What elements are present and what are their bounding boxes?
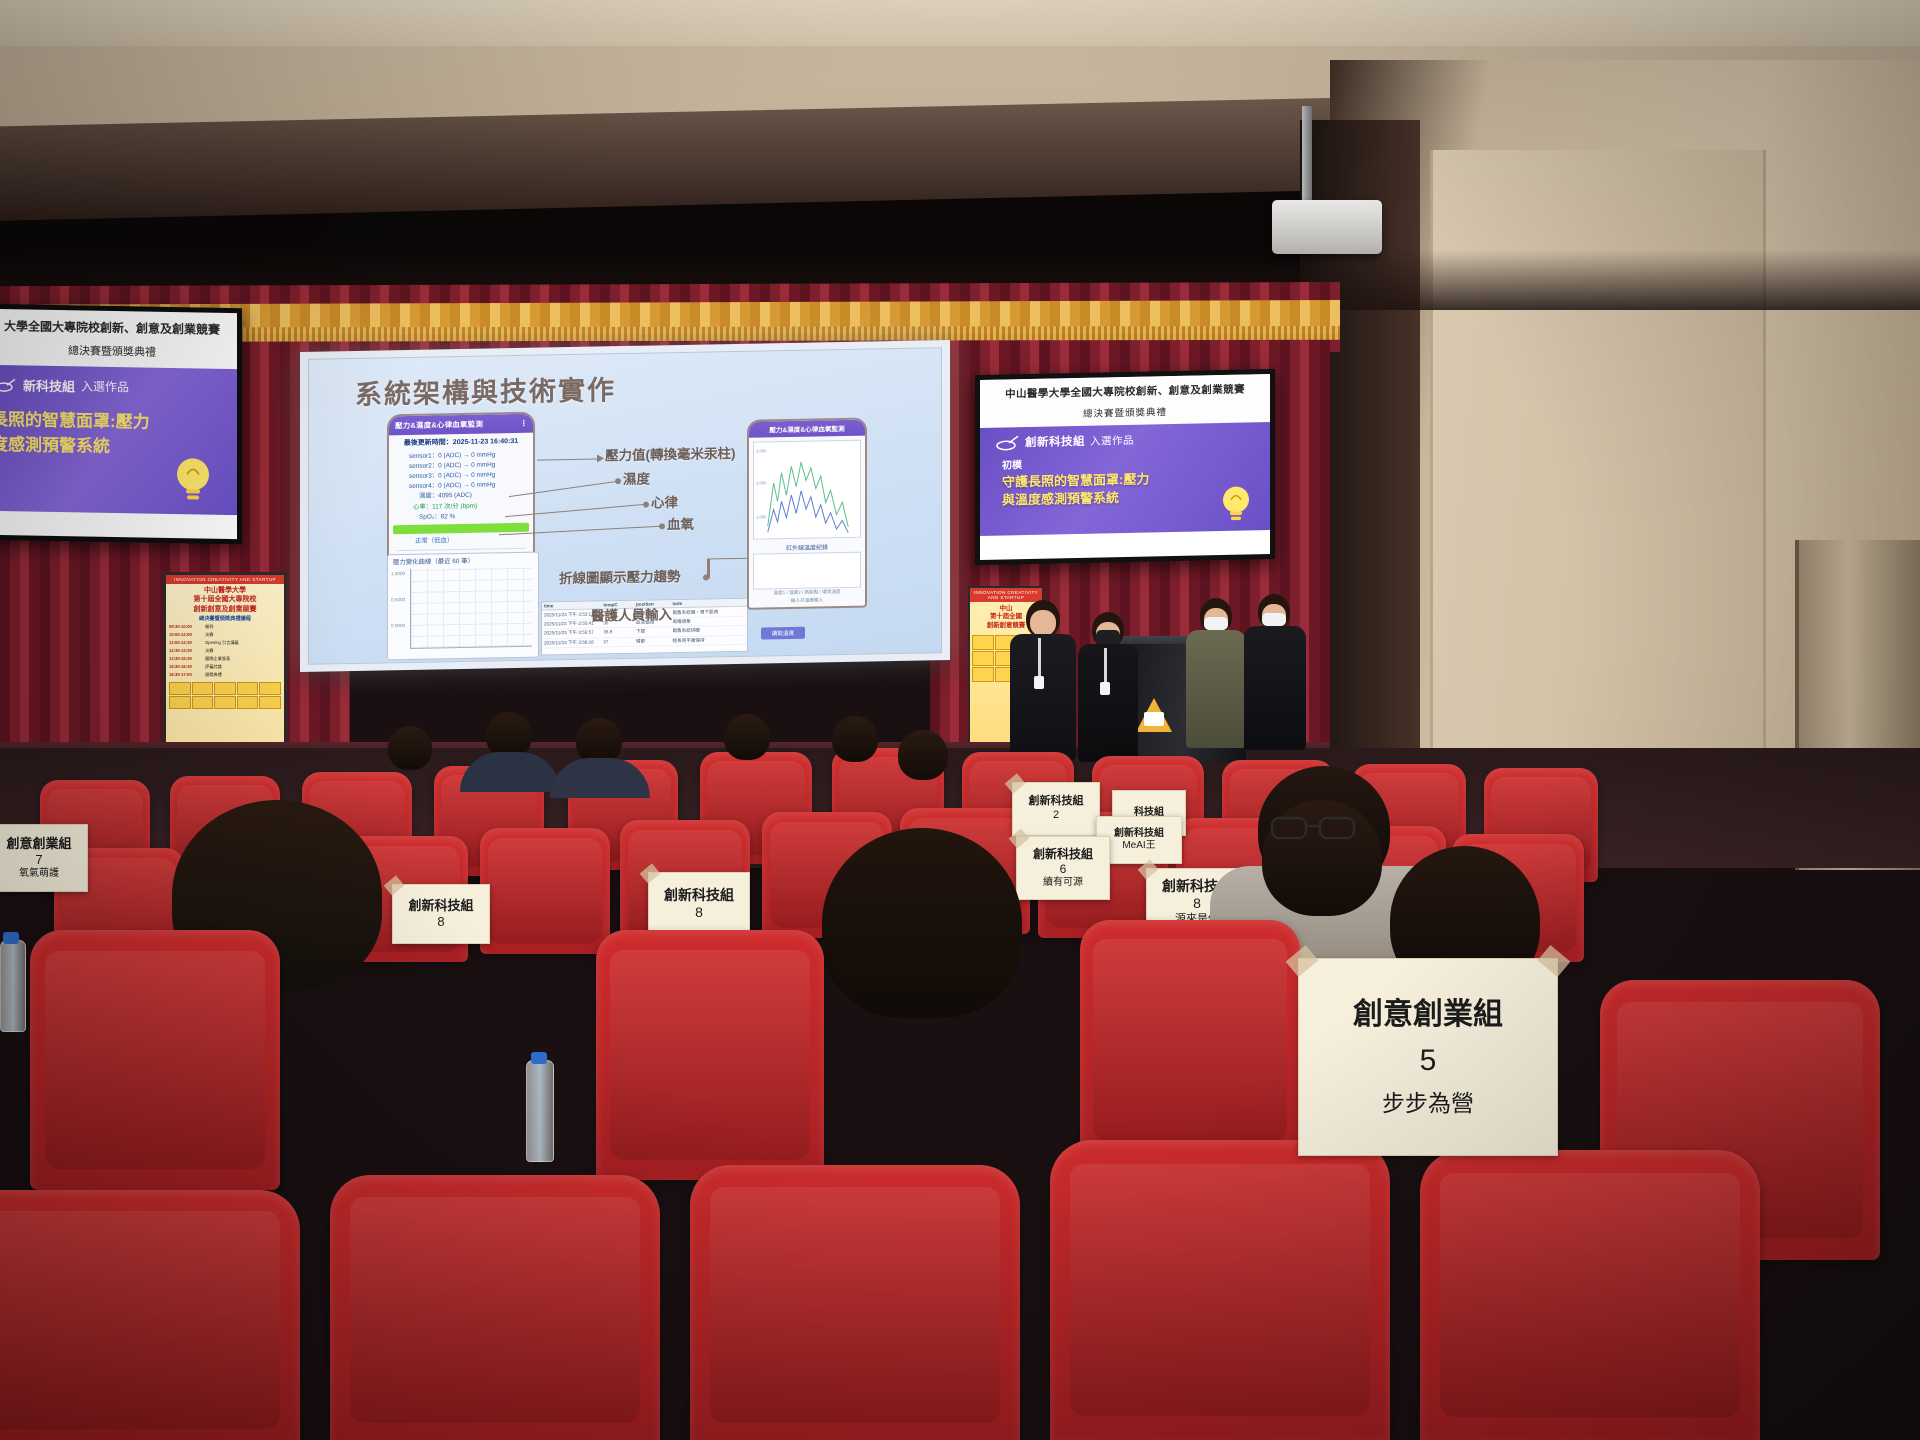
seat-card: 創意創業組 7 氧氣萌護 <box>0 824 88 892</box>
face-mask-icon <box>1204 617 1228 630</box>
bottle-cap <box>3 932 19 944</box>
lightbulb-icon <box>1216 480 1256 527</box>
seat[interactable] <box>596 930 824 1180</box>
chart-caption: 壓力變化曲線（最近 60 筆） <box>388 553 538 567</box>
seat[interactable] <box>690 1165 1020 1440</box>
cell-note: 兩售系統膜・胃下肌肉 <box>670 607 747 617</box>
seat[interactable] <box>1420 1150 1760 1440</box>
schedule-row: 16:30-17:00 頒獎典禮 <box>166 671 284 679</box>
water-bottle <box>0 940 26 1032</box>
left-tv-category-suffix: 入選作品 <box>81 377 129 395</box>
poster-sponsor-grid <box>166 679 284 712</box>
torso <box>1010 634 1076 760</box>
right-tv-header-line2: 總決賽暨頒獎典禮 <box>984 402 1266 422</box>
seat-card-group: 創新科技組 <box>408 898 473 914</box>
seat[interactable] <box>330 1175 660 1440</box>
schedule-desc: 決賽 <box>205 648 213 654</box>
projector <box>1272 200 1382 254</box>
schedule-desc: 決賽 <box>205 632 213 638</box>
torso <box>1186 630 1246 748</box>
seat-card-team: 續有可源 <box>1043 877 1083 890</box>
schedule-desc: Opening 引言講義 <box>205 640 239 646</box>
y-tick: 1,000 <box>756 514 766 519</box>
cell-time: 2025/11/23 下午 3:56:16 <box>542 638 601 647</box>
schedule-row: 10:00-12:00 決賽 <box>166 631 284 639</box>
schedule-row: 13:30-15:30 團隊企業發表 <box>166 655 284 663</box>
sponsor-logo <box>259 696 281 709</box>
ceiling-strip <box>0 0 1920 46</box>
cell-pos: 臂部 <box>634 637 670 646</box>
torso <box>1078 644 1138 762</box>
right-tv-screen: 中山醫學大學全國大專院校創新、創意及創業競賽 總決賽暨頒獎典禮 創新科技組 入選… <box>980 374 1270 560</box>
auditorium-scene: 系統架構與技術實作 壓力&濕度&心律血氧監測 ⋮ 最後更新時間：2025-11-… <box>0 0 1920 1440</box>
y-tick: 3,000 <box>756 448 766 453</box>
poster-title-line2: 第十屆全國大專院校 <box>168 595 282 604</box>
mouse-pointer-icon <box>0 377 17 391</box>
y-tick: 0.0000 <box>391 623 405 628</box>
traffic-cone-icon <box>1136 692 1172 732</box>
sponsor-logo <box>237 696 259 709</box>
audience-head <box>822 828 1022 1018</box>
left-tv-header-line1: 大學全國大專院校創新、創意及創業競賽 <box>0 317 231 338</box>
right-tv-category-label: 創新科技組 <box>1025 433 1085 450</box>
name-badge <box>1034 676 1044 689</box>
face <box>1030 610 1056 636</box>
poster-title-line3: 創新創意及創業競賽 <box>168 605 282 614</box>
chart-series-svg <box>754 441 860 539</box>
schedule-time: 15:30-16:30 <box>169 664 203 670</box>
leader-dot <box>615 478 621 484</box>
schedule-desc: 報到 <box>205 624 213 630</box>
audience-head <box>898 730 948 780</box>
sponsor-logo <box>972 667 994 682</box>
poster-title: 中山醫學大學 第十屆全國大專院校 創新創意及創業競賽 <box>166 584 284 616</box>
seat-card-group: 創新科技組 <box>1029 795 1084 809</box>
cell-pos: 下肢 <box>634 627 670 636</box>
seat-card-group: 創新科技組 <box>1114 828 1164 841</box>
left-tv-display: 大學全國大專院校創新、創意及創業競賽 總決賽暨頒獎典禮 新科技組 入選作品 長照… <box>0 304 242 545</box>
phone-mockup-chart: 壓力&濕度&心律血氧監測 3,000 2,000 1,000 紅外線溫度紀錄 溫… <box>747 418 867 610</box>
torso <box>1244 626 1306 750</box>
annotation-humidity: 濕度 <box>623 468 650 488</box>
cell-note: 兩售系統供暖 <box>670 626 747 636</box>
schedule-desc: 團隊企業發表 <box>205 656 230 662</box>
slide-title: 系統架構與技術實作 <box>355 368 616 412</box>
poster-banner: INNOVATION CREATIVITY AND STARTUP <box>166 575 284 584</box>
seat-card-group: 創新科技組 <box>664 887 734 905</box>
presenter-olive <box>1186 598 1248 748</box>
schedule-desc: 評審討論 <box>205 664 222 670</box>
right-tv-body: 創新科技組 入選作品 初模 守護長照的智慧面罩:壓力 與溫度感測預警系統 <box>980 422 1270 536</box>
seat-card-number: 8 <box>1193 895 1201 913</box>
col-note: note <box>670 599 747 608</box>
name-badge <box>1100 682 1110 695</box>
divider <box>397 548 525 551</box>
schedule-time: 12:00-12:30 <box>169 640 203 646</box>
seat-card: 創新科技組 6 續有可源 <box>1016 836 1110 900</box>
cell-temp: 37 <box>601 637 634 646</box>
right-tv-category-suffix: 入選作品 <box>1090 432 1134 448</box>
left-tv-body: 新科技組 入選作品 長照的智慧面罩:壓力 度感測預警系統 <box>0 365 237 515</box>
annotation-spo2: 血氧 <box>667 513 694 533</box>
left-tv-category-label: 新科技組 <box>23 375 75 395</box>
schedule-row: 12:30-13:30 決賽 <box>166 647 284 655</box>
seat[interactable] <box>0 1190 300 1440</box>
face-mask-icon <box>1262 613 1286 626</box>
lanyard <box>1038 638 1041 678</box>
schedule-time: 12:30-13:30 <box>169 648 203 654</box>
foreground-card-number: 5 <box>1420 1042 1437 1080</box>
seat-card-number: 6 <box>1060 862 1067 877</box>
read-temperature-button[interactable]: 讀取溫度 <box>761 627 805 640</box>
left-tv-header: 大學全國大專院校創新、創意及創業競賽 總決賽暨頒獎典禮 <box>0 309 237 369</box>
eyeglasses-icon <box>1270 812 1356 846</box>
leader-arrow-icon <box>597 454 604 462</box>
schedule-time: 13:30-15:30 <box>169 656 203 662</box>
left-tv-header-line2: 總決賽暨頒獎典禮 <box>0 341 231 361</box>
seat-card-group: 創意創業組 <box>6 836 71 852</box>
poster-subtitle: 總決賽暨頒獎典禮議程 <box>166 616 284 623</box>
lightbulb-icon <box>167 450 219 509</box>
mouse-pointer-icon <box>996 435 1020 451</box>
lanyard <box>1104 648 1107 684</box>
annotation-heart-rate: 心律 <box>651 491 678 511</box>
seat-card: 創新科技組 8 <box>392 884 490 944</box>
schedule-poster-left: INNOVATION CREATIVITY AND STARTUP 中山醫學大學… <box>163 572 287 753</box>
bottle-cap <box>531 1052 547 1064</box>
water-bottle <box>526 1060 554 1162</box>
right-tv-header: 中山醫學大學全國大專院校創新、創意及創業競賽 總決賽暨頒獎典禮 <box>980 374 1270 428</box>
projector-mount <box>1302 106 1312 214</box>
schedule-row: 15:30-16:30 評審討論 <box>166 663 284 671</box>
leader-dot <box>659 523 665 529</box>
right-tv-header-line1: 中山醫學大學全國大專院校創新、創意及創業競賽 <box>984 381 1266 402</box>
sponsor-logo <box>237 682 259 695</box>
schedule-time: 10:00-12:00 <box>169 632 203 638</box>
annotation-pressure: 壓力值(轉換毫米汞柱) <box>605 442 736 464</box>
sponsor-logo <box>214 696 236 709</box>
y-tick: 2,000 <box>756 480 766 485</box>
right-tv-display: 中山醫學大學全國大專院校創新、創意及創業競賽 總決賽暨頒獎典禮 創新科技組 入選… <box>975 369 1275 565</box>
presenter-speaking <box>1008 600 1078 760</box>
seat-card-number: 7 <box>35 852 42 868</box>
foreground-card-team: 步步為營 <box>1382 1089 1474 1118</box>
seat-card-group: 創新科技組 <box>1033 847 1093 862</box>
left-tv-title-line1: 長照的智慧面罩:壓力 <box>0 408 237 437</box>
sponsor-logo <box>972 651 994 666</box>
y-tick: 0.5000 <box>391 597 405 602</box>
presenter-right <box>1244 594 1306 750</box>
seat-card-team: MeAI王 <box>1122 840 1155 853</box>
leader-line <box>707 558 710 578</box>
seat-card: 創新科技組 8 <box>648 872 750 936</box>
cell-temp: 36.9 <box>601 628 634 637</box>
leader-line <box>537 459 597 461</box>
seat-card-number: 8 <box>437 914 444 930</box>
phone-chart-titlebar: 壓力&濕度&心律血氧監測 <box>749 420 865 438</box>
sponsor-logo <box>169 682 191 695</box>
sponsor-logo <box>972 635 994 650</box>
seat[interactable] <box>480 828 610 954</box>
seat-card-number: 2 <box>1053 809 1059 823</box>
left-tv-category: 新科技組 入選作品 <box>0 365 237 398</box>
left-tv-screen: 大學全國大專院校創新、創意及創業競賽 總決賽暨頒獎典禮 新科技組 入選作品 長照… <box>0 309 237 539</box>
audience-head <box>388 726 432 770</box>
cell-time: 2025/11/23 下午 3:55:57 <box>542 629 601 638</box>
sponsor-logo <box>169 696 191 709</box>
seat-card-number: 8 <box>695 904 703 922</box>
sponsor-logo <box>214 682 236 695</box>
schedule-time: 16:30-17:00 <box>169 672 203 678</box>
seat[interactable] <box>30 930 280 1190</box>
seat-card-team: 氧氣萌護 <box>19 868 59 881</box>
seat[interactable] <box>1080 920 1300 1160</box>
presenter-masked <box>1078 612 1140 762</box>
foreground-card-group: 創意創業組 <box>1353 996 1503 1034</box>
face-mask-icon <box>1096 630 1120 644</box>
y-tick: 1.0000 <box>391 571 405 576</box>
slide-content: 系統架構與技術實作 壓力&濕度&心律血氧監測 ⋮ 最後更新時間：2025-11-… <box>308 347 942 665</box>
sponsor-logo <box>259 682 281 695</box>
annotation-trend-chart: 折線圖顯示壓力趨勢 <box>559 565 681 587</box>
sponsor-logo <box>192 682 214 695</box>
seat-card: 創新科技組 2 <box>1012 782 1100 836</box>
projection-screen: 系統架構與技術實作 壓力&濕度&心律血氧監測 ⋮ 最後更新時間：2025-11-… <box>300 340 950 672</box>
audience-head <box>832 716 878 762</box>
schedule-row: 12:00-12:30 Opening 引言講義 <box>166 639 284 647</box>
kebab-menu-icon[interactable]: ⋮ <box>520 419 528 428</box>
annotation-nurse-input: 醫護人員輸入 <box>591 603 672 624</box>
chart-grid <box>410 567 532 649</box>
sponsor-logo <box>192 696 214 709</box>
schedule-time: 09:30-10:00 <box>169 624 203 630</box>
cell-note: 經長見平面保持 <box>670 635 747 645</box>
poster-title-line1: 中山醫學大學 <box>168 586 282 595</box>
right-wall-panel <box>1430 150 1766 760</box>
phone-titlebar-text: 壓力&濕度&心律血氧監測 <box>395 419 483 432</box>
leader-dot <box>643 502 649 508</box>
pressure-curve-chart: 壓力變化曲線（最近 60 筆） 1.0000 0.5000 0.0000 <box>387 552 539 661</box>
audience-head <box>724 714 770 760</box>
pressure-line-chart: 3,000 2,000 1,000 <box>753 440 861 540</box>
input-label: 輸入共溫度輸入 <box>749 596 865 606</box>
ir-temperature-chart <box>753 552 861 590</box>
seat-card-foreground: 創意創業組 5 步步為營 <box>1298 958 1558 1156</box>
schedule-row: 09:30-10:00 報到 <box>166 623 284 631</box>
seat[interactable] <box>1050 1140 1390 1440</box>
cell-note: 周傳項象 <box>670 617 747 627</box>
schedule-desc: 頒獎典禮 <box>205 672 222 678</box>
